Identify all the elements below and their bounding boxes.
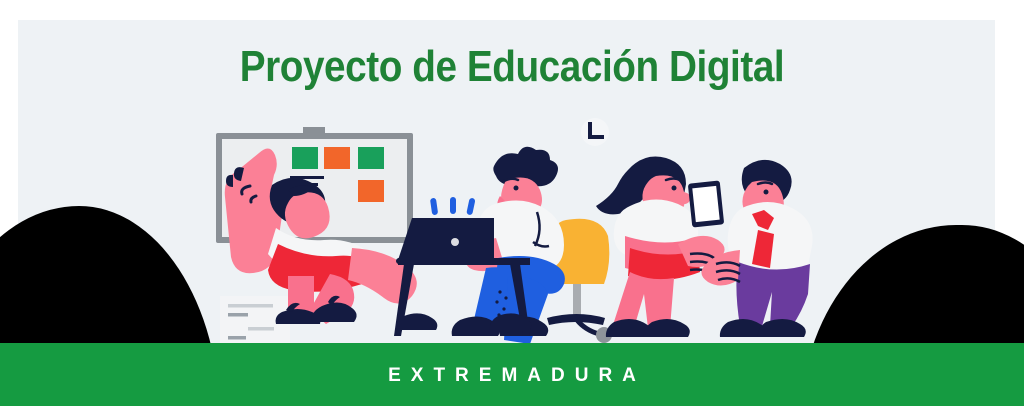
sticky-note-green-2: [358, 147, 384, 169]
sticky-note-green-1: [292, 147, 318, 169]
sticky-note-orange-2: [358, 180, 384, 202]
page-title: Proyecto de Educación Digital: [61, 42, 962, 92]
sticky-note-orange-1: [324, 147, 350, 169]
footer-brand-label: EXTREMADURA: [0, 365, 1024, 387]
tablet: [688, 180, 724, 227]
footer-band: EXTREMADURA: [0, 343, 1024, 406]
corner-bracket-mark: [581, 118, 609, 146]
motion-ticks: [430, 197, 476, 215]
banner: Proyecto de Educación Digital EXTREMADUR…: [0, 0, 1024, 406]
laptop: [396, 218, 500, 264]
